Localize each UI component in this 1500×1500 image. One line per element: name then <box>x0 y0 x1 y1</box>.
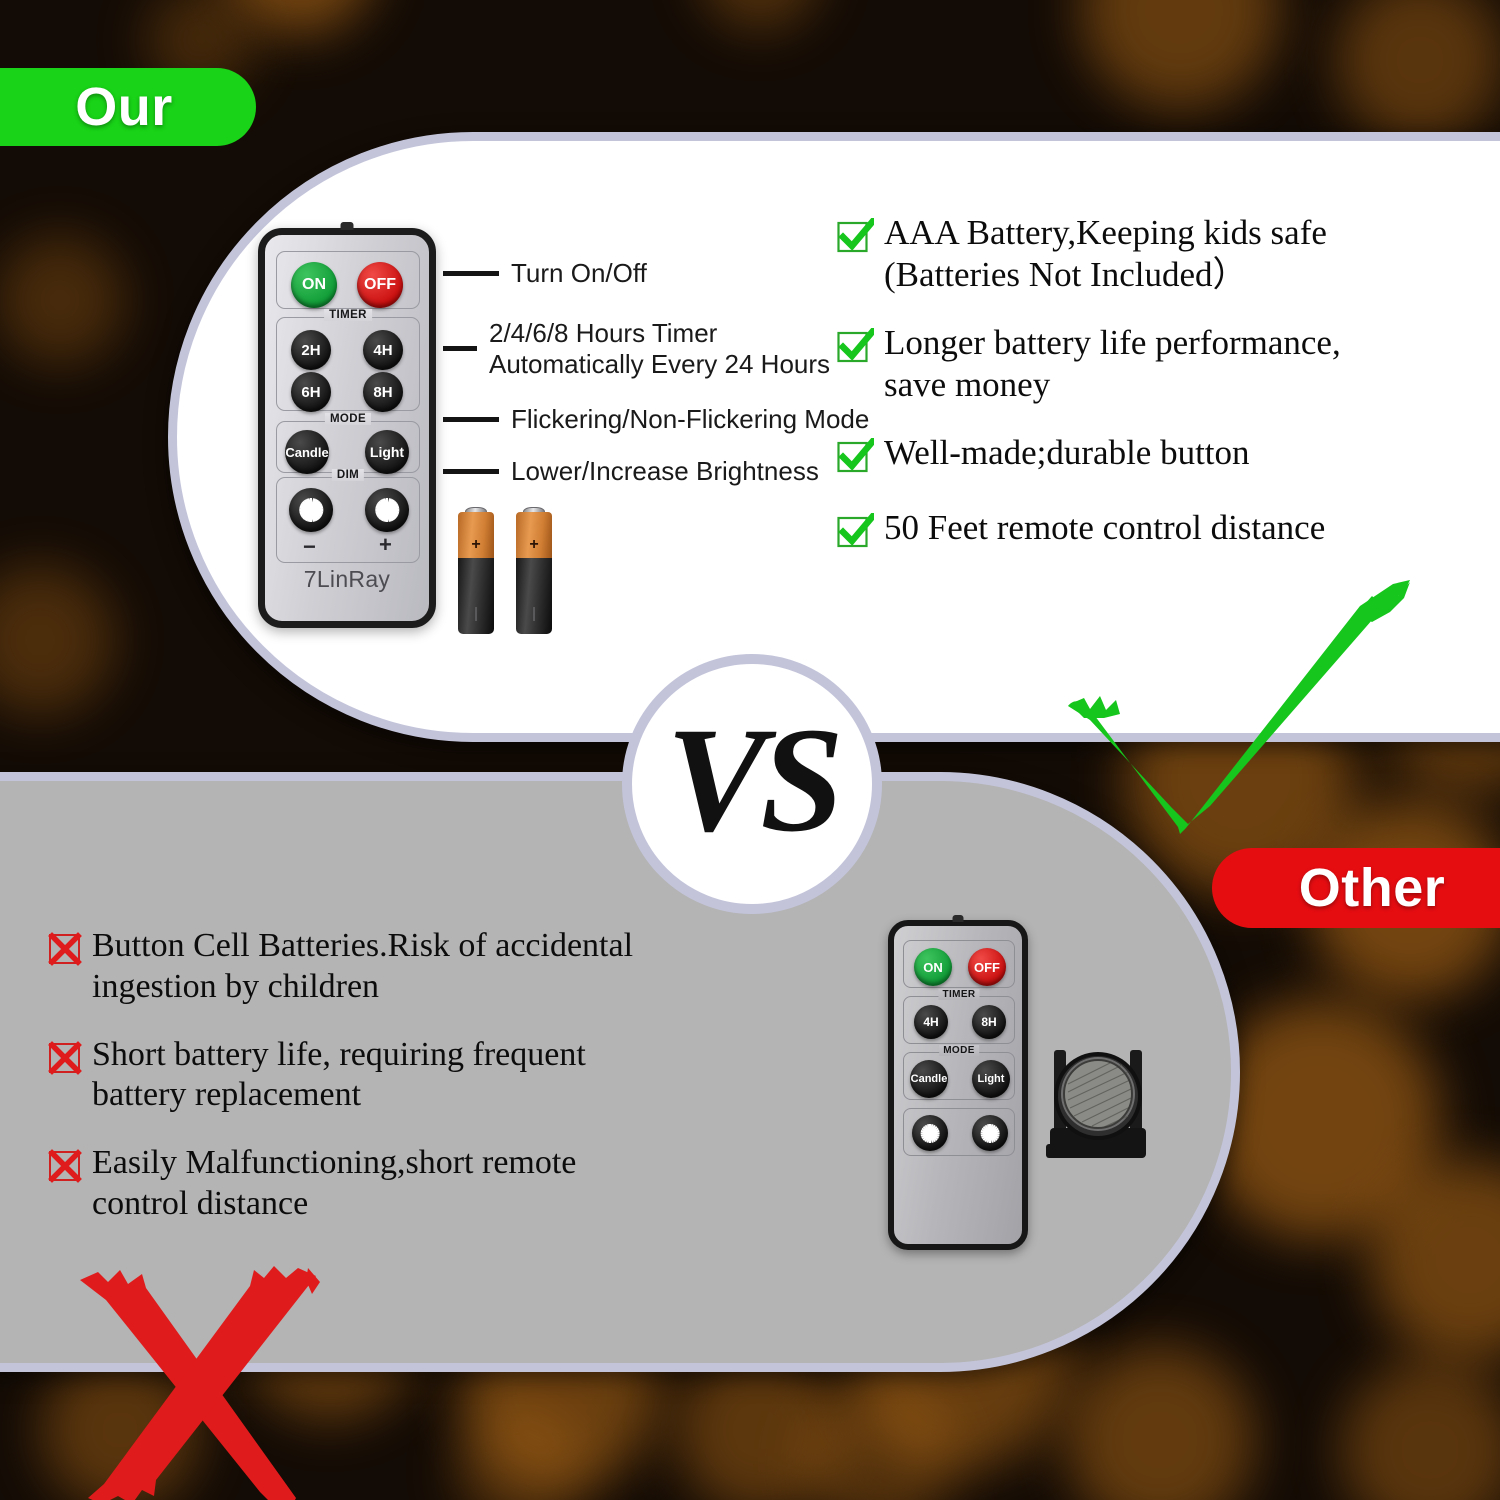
pro-text: 50 Feet remote control distance <box>884 507 1325 549</box>
timer-8h-button[interactable]: 8H <box>972 1005 1006 1039</box>
timer-8h-button[interactable]: 8H <box>363 372 403 412</box>
dim-group: DIM−+ <box>276 477 420 563</box>
aaa-battery: + <box>458 512 494 634</box>
our-badge: Our <box>0 68 256 146</box>
check-icon <box>836 328 874 371</box>
timer-6h-button[interactable]: 6H <box>291 372 331 412</box>
power-off-button[interactable]: OFF <box>357 262 403 308</box>
dim-plus-label: + <box>379 534 392 556</box>
check-icon <box>836 438 874 481</box>
pro-text: AAA Battery,Keeping kids safe (Batteries… <box>884 212 1327 296</box>
list-item: Well-made;durable button <box>836 432 1500 481</box>
ir-emitter-nub <box>341 222 354 230</box>
other-badge: Other <box>1212 848 1500 928</box>
dim-lower-button[interactable] <box>289 488 333 532</box>
annotation-power: Turn On/Off <box>443 258 647 289</box>
sun-icon <box>980 1123 1000 1143</box>
our-badge-label: Our <box>75 76 173 138</box>
pro-text: Well-made;durable button <box>884 432 1250 474</box>
list-item: Button Cell Batteries.Risk of accidental… <box>48 926 788 1008</box>
dim-lower-button[interactable] <box>912 1115 948 1151</box>
our-remote-control: ONOFFTIMER2H4H6H8HMODECandleLightDIM−+7L… <box>258 228 436 628</box>
vs-badge: VS <box>622 654 882 914</box>
timer-group: TIMER4H8H <box>903 996 1015 1044</box>
annotation-label: Flickering/Non-Flickering Mode <box>511 404 869 435</box>
bokeh-circle <box>700 0 820 30</box>
leader-line <box>443 271 499 276</box>
annotation-timer: 2/4/6/8 Hours Timer Automatically Every … <box>443 318 830 379</box>
timer-group: TIMER2H4H6H8H <box>276 317 420 411</box>
leader-line <box>443 346 477 351</box>
list-item: Easily Malfunctioning,short remote contr… <box>48 1143 788 1225</box>
mode-label: MODE <box>325 413 371 425</box>
bokeh-circle <box>1335 0 1500 145</box>
bokeh-circle <box>1080 0 1280 110</box>
dim-increase-button[interactable] <box>365 488 409 532</box>
ir-emitter-nub <box>953 915 964 922</box>
big-cross-brush-icon <box>58 1248 348 1500</box>
annotation-label: 2/4/6/8 Hours Timer Automatically Every … <box>489 318 830 379</box>
other-badge-label: Other <box>1299 857 1446 919</box>
cross-icon <box>48 932 82 971</box>
list-item: Short battery life, requiring frequent b… <box>48 1035 788 1117</box>
timer-label: TIMER <box>324 309 372 321</box>
timer-4h-button[interactable]: 4H <box>363 330 403 370</box>
other-remote-control: ONOFFTIMER4H8HMODECandleLight <box>888 920 1028 1250</box>
sun-icon <box>374 497 400 523</box>
mode-candle-button[interactable]: Candle <box>285 430 329 474</box>
annotation-dim: Lower/Increase Brightness <box>443 456 819 487</box>
power-on-button[interactable]: ON <box>291 262 337 308</box>
remote-brand-label: 7LinRay <box>265 566 429 593</box>
bokeh-circle <box>0 565 115 715</box>
leader-line <box>443 469 499 474</box>
list-item: AAA Battery,Keeping kids safe (Batteries… <box>836 212 1500 296</box>
cons-list: Button Cell Batteries.Risk of accidental… <box>48 926 788 1252</box>
mode-group: MODECandleLight <box>276 421 420 473</box>
list-item: Longer battery life performance, save mo… <box>836 322 1500 406</box>
timer-4h-button[interactable]: 4H <box>914 1005 948 1039</box>
mode-light-button[interactable]: Light <box>972 1060 1010 1098</box>
cross-icon <box>48 1041 82 1080</box>
sun-icon <box>920 1123 940 1143</box>
pros-list: AAA Battery,Keeping kids safe (Batteries… <box>836 212 1500 582</box>
bokeh-circle <box>0 235 125 365</box>
vs-label: VS <box>666 705 837 855</box>
pro-text: Longer battery life performance, save mo… <box>884 322 1341 406</box>
battery-body <box>516 558 552 634</box>
bokeh-circle <box>1340 1360 1500 1500</box>
con-text: Button Cell Batteries.Risk of accidental… <box>92 926 633 1008</box>
mode-light-button[interactable]: Light <box>365 430 409 474</box>
con-text: Short battery life, requiring frequent b… <box>92 1035 586 1117</box>
button-cell-battery <box>1042 1032 1154 1172</box>
dim-increase-button[interactable] <box>972 1115 1008 1151</box>
sun-icon <box>298 497 324 523</box>
annotation-label: Turn On/Off <box>511 258 647 289</box>
cross-icon <box>48 1149 82 1188</box>
con-text: Easily Malfunctioning,short remote contr… <box>92 1143 576 1225</box>
mode-candle-button[interactable]: Candle <box>910 1060 948 1098</box>
battery-body <box>458 558 494 634</box>
power-on-button[interactable]: ON <box>914 948 952 986</box>
mode-group: MODECandleLight <box>903 1052 1015 1100</box>
list-item: 50 Feet remote control distance <box>836 507 1500 556</box>
dim-label: DIM <box>332 469 364 481</box>
annotation-label: Lower/Increase Brightness <box>511 456 819 487</box>
timer-label: TIMER <box>938 989 979 1000</box>
power-off-button[interactable]: OFF <box>968 948 1006 986</box>
battery-polarity-mark: + <box>458 512 494 560</box>
timer-2h-button[interactable]: 2H <box>291 330 331 370</box>
check-icon <box>836 513 874 556</box>
big-check-brush-icon <box>1060 578 1460 838</box>
annotation-mode: Flickering/Non-Flickering Mode <box>443 404 869 435</box>
power-group: ONOFF <box>903 940 1015 988</box>
dim-minus-label: − <box>303 536 316 558</box>
power-group: ONOFF <box>276 251 420 309</box>
bokeh-circle <box>1065 1345 1255 1500</box>
aaa-battery-pair: + + <box>458 512 552 634</box>
mode-label: MODE <box>939 1045 979 1056</box>
leader-line <box>443 417 499 422</box>
battery-polarity-mark: + <box>516 512 552 560</box>
aaa-battery: + <box>516 512 552 634</box>
check-icon <box>836 218 874 261</box>
dim-group <box>903 1108 1015 1156</box>
